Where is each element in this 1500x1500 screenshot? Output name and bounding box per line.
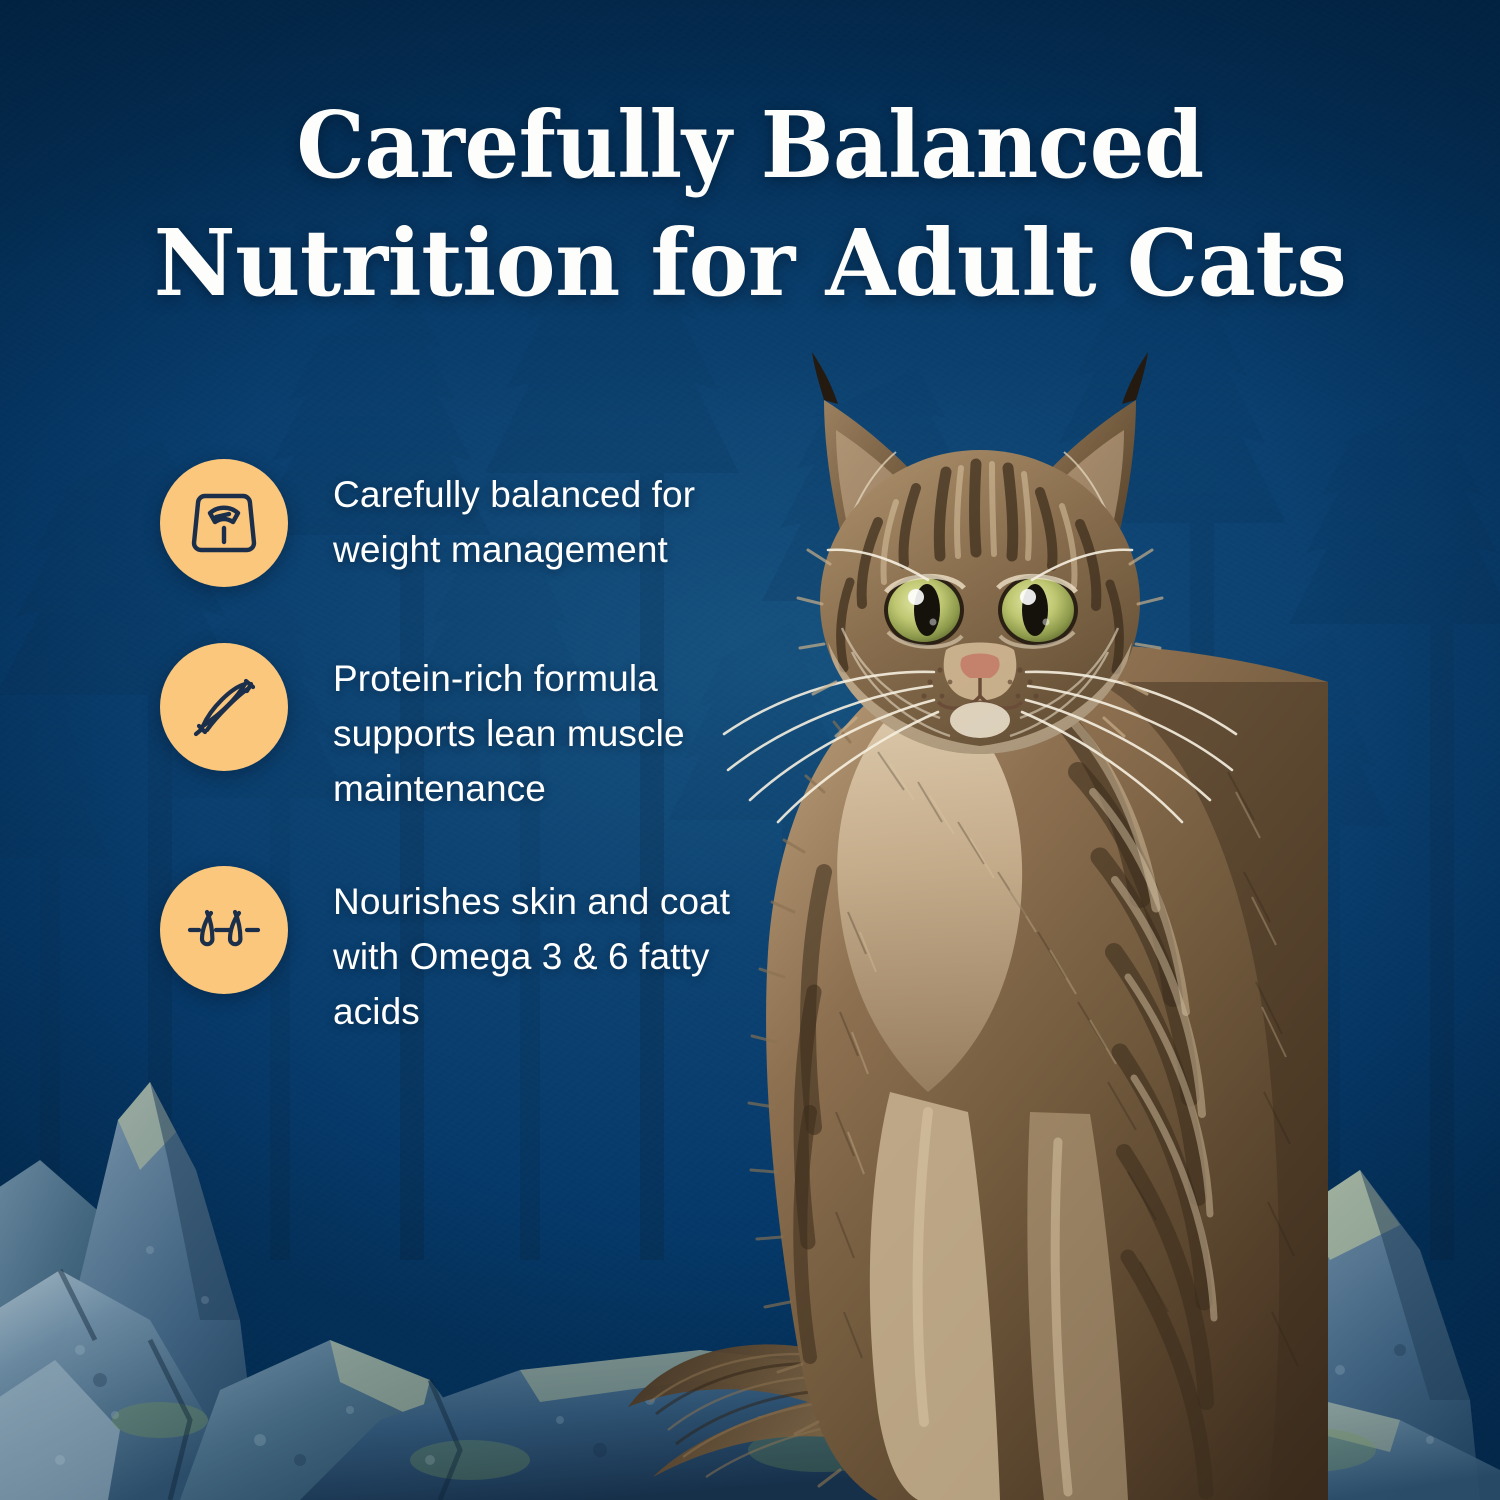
feature-text: Nourishes skin and coat with Omega 3 & 6… [333, 862, 803, 1039]
weight-scale-icon [160, 459, 288, 587]
hair-follicle-icon [160, 866, 288, 994]
page-title: Carefully Balanced Nutrition for Adult C… [0, 86, 1500, 322]
headline-line-2: Nutrition for Adult Cats [19, 204, 1482, 322]
feature-list: Carefully balanced for weight management [160, 455, 820, 1039]
feature-item-weight-management: Carefully balanced for weight management [160, 455, 820, 587]
feature-text: Protein-rich formula supports lean muscl… [333, 639, 803, 816]
feature-item-protein: Protein-rich formula supports lean muscl… [160, 639, 820, 816]
headline-line-1: Carefully Balanced [49, 86, 1452, 204]
muscle-fiber-icon [160, 643, 288, 771]
feature-item-skin-coat: Nourishes skin and coat with Omega 3 & 6… [160, 862, 820, 1039]
feature-text: Carefully balanced for weight management [333, 455, 803, 577]
promo-banner: Carefully Balanced Nutrition for Adult C… [0, 0, 1500, 1500]
